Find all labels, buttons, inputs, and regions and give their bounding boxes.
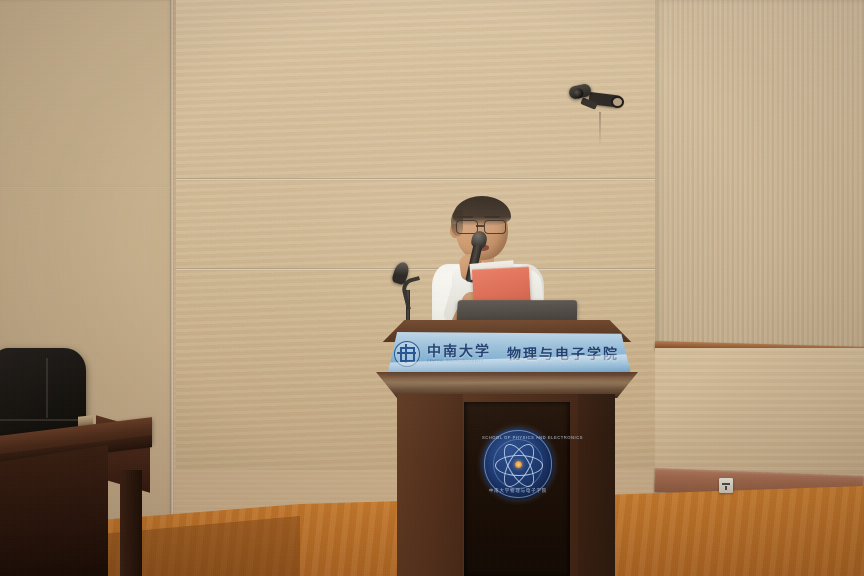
foreground-desk-leg	[120, 470, 142, 576]
emblem-text-chinese: 中南大学物理与电子学院	[482, 488, 554, 494]
banner-university-name: 中南大学	[427, 345, 491, 360]
banner-university-name-en: CENTRAL SOUTH UNIVERSITY	[427, 360, 491, 364]
camera-lens-icon	[572, 87, 584, 99]
podium-banner: 中南大学 CENTRAL SOUTH UNIVERSITY 物理与电子学院	[382, 332, 634, 376]
glasses-bridge	[476, 225, 484, 227]
security-camera	[563, 80, 623, 135]
podium-right-face	[578, 394, 615, 576]
wall-seam-upper	[176, 178, 660, 181]
photo-scene: 中南大学 CENTRAL SOUTH UNIVERSITY 物理与电子学院 SC…	[0, 0, 864, 576]
csu-logo-bar	[397, 352, 416, 354]
wall-joint-left	[170, 0, 174, 576]
camera-cable	[599, 112, 601, 144]
school-emblem: SCHOOL OF PHYSICS AND ELECTRONICS 中南大学物理…	[482, 428, 554, 500]
power-outlet-icon	[719, 478, 733, 493]
wall-seam-left	[0, 186, 172, 188]
csu-logo-icon	[394, 341, 420, 367]
camera-bracket-hole	[611, 96, 624, 108]
podium: 中南大学 CENTRAL SOUTH UNIVERSITY 物理与电子学院 SC…	[372, 320, 642, 576]
emblem-text-english: SCHOOL OF PHYSICS AND ELECTRONICS	[482, 435, 554, 440]
podium-left-face	[397, 394, 463, 576]
chair-seam	[46, 358, 48, 418]
wall-wood-veneer	[655, 0, 864, 350]
banner-department-name: 物理与电子学院	[507, 344, 619, 364]
foreground-desk-panel	[0, 445, 108, 576]
atom-nucleus-icon	[515, 461, 522, 468]
